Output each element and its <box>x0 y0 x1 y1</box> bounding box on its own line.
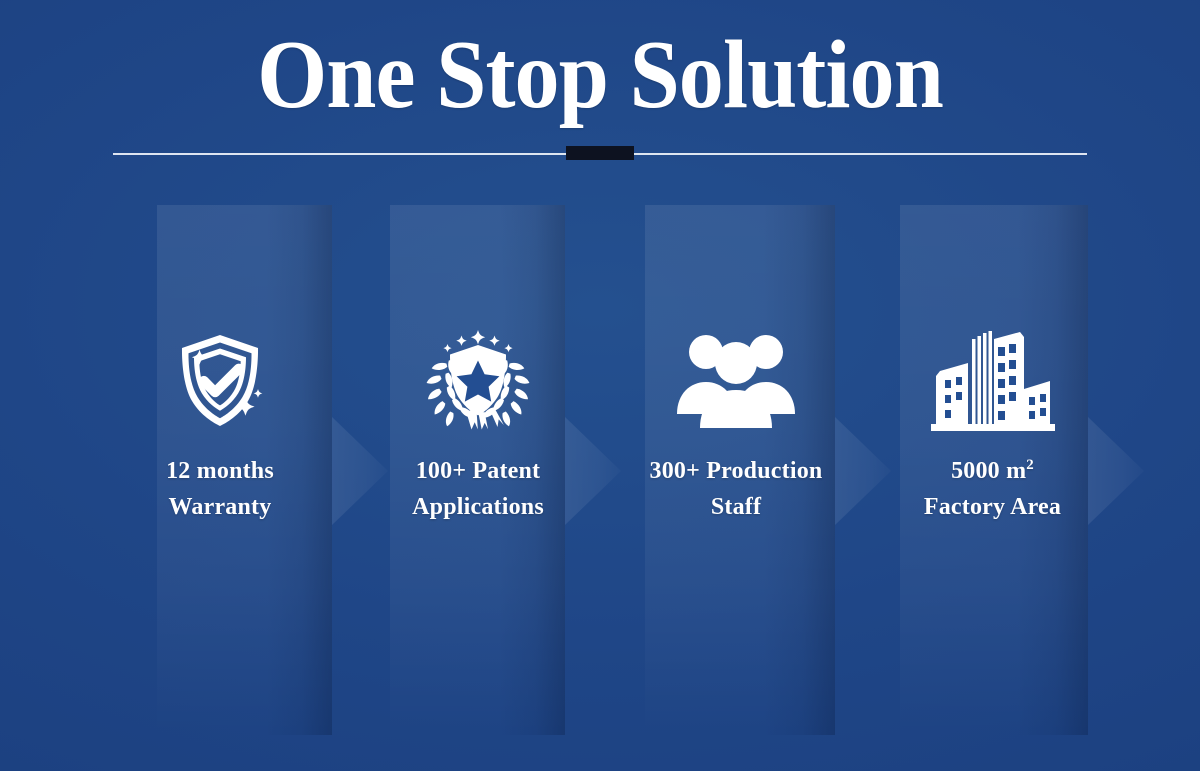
stat-line-2: Factory Area <box>895 489 1090 525</box>
stat-line-1: 300+ Production <box>650 458 823 484</box>
stat-line-1-superscript: 2 <box>1026 457 1034 473</box>
shield-check-icon <box>130 323 310 439</box>
feature-card-patents: 100+ Patent Applications <box>388 205 568 735</box>
stat-line-1: 100+ Patent <box>416 458 541 484</box>
people-group-icon <box>630 323 842 439</box>
feature-card-staff: 300+ Production Staff <box>630 205 842 735</box>
panel-chevron-arrow <box>565 417 621 525</box>
panel-chevron-arrow <box>332 417 388 525</box>
feature-stat-warranty: 12 months Warranty <box>130 453 310 525</box>
page-title: One Stop Solution <box>48 24 1152 127</box>
feature-stat-patents: 100+ Patent Applications <box>388 453 568 525</box>
panel-chevron-arrow <box>835 417 891 525</box>
buildings-icon <box>895 323 1090 439</box>
feature-card-warranty: 12 months Warranty <box>130 205 310 735</box>
header: One Stop Solution <box>0 0 1200 185</box>
panel-chevron-arrow <box>1088 417 1144 525</box>
stat-line-2: Warranty <box>130 489 310 525</box>
feature-stat-staff: 300+ Production Staff <box>630 453 842 525</box>
stat-line-2: Staff <box>630 489 842 525</box>
feature-stat-factory: 5000 m2 Factory Area <box>895 453 1090 525</box>
stat-line-1: 5000 m2 <box>951 458 1034 484</box>
feature-card-factory: 5000 m2 Factory Area <box>895 205 1090 735</box>
stat-line-1: 12 months <box>166 458 274 484</box>
stat-line-2: Applications <box>388 489 568 525</box>
feature-panels: 12 months Warranty <box>0 205 1200 735</box>
laurel-star-badge-icon <box>388 323 568 439</box>
title-divider-accent-block <box>566 146 634 160</box>
slide-canvas: One Stop Solution <box>0 0 1200 771</box>
stat-line-1-text: 5000 m <box>951 458 1026 484</box>
